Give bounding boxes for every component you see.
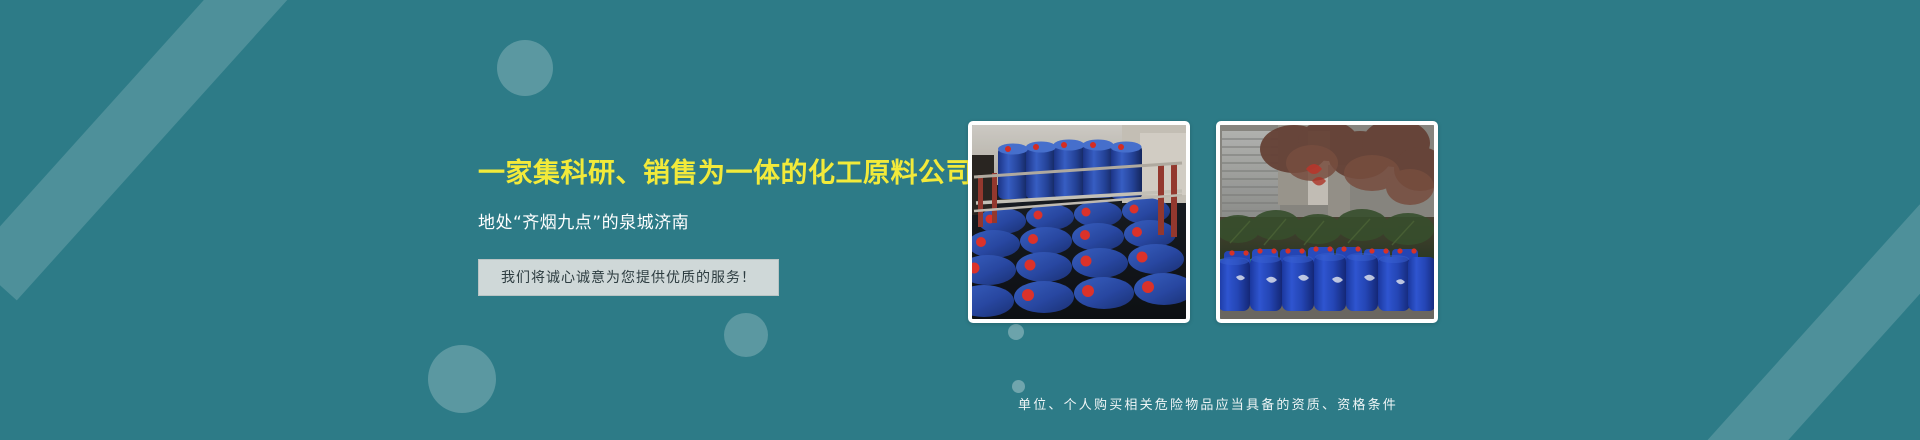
photo-drums-outdoors-image [1220, 125, 1434, 319]
diagonal-stripe-left [0, 0, 331, 300]
decorative-circle-bottom-left [428, 345, 496, 413]
hero-subheadline: 地处“齐烟九点”的泉城济南 [478, 208, 948, 233]
hero-banner: 一家集科研、销售为一体的化工原料公司 地处“齐烟九点”的泉城济南 我们将诚心诚意… [0, 0, 1920, 440]
hazardous-goods-notice: 单位、个人购买相关危险物品应当具备的资质、资格条件 [1018, 394, 1398, 413]
hero-copy-block: 一家集科研、销售为一体的化工原料公司 地处“齐烟九点”的泉城济南 我们将诚心诚意… [478, 158, 948, 296]
hero-headline: 一家集科研、销售为一体的化工原料公司 [478, 158, 948, 190]
photo-drums-on-truck-image [972, 125, 1186, 319]
photo-card-drums-outdoors[interactable] [1216, 121, 1438, 323]
decorative-circle-top [497, 40, 553, 96]
decorative-dot-upper [1008, 324, 1024, 340]
decorative-dot-lower [1012, 380, 1025, 393]
decorative-circle-bottom-mid [724, 313, 768, 357]
photo-card-drums-on-truck[interactable] [968, 121, 1190, 323]
diagonal-stripe-right [1640, 165, 1920, 440]
service-promise-button[interactable]: 我们将诚心诚意为您提供优质的服务！ [478, 259, 779, 296]
